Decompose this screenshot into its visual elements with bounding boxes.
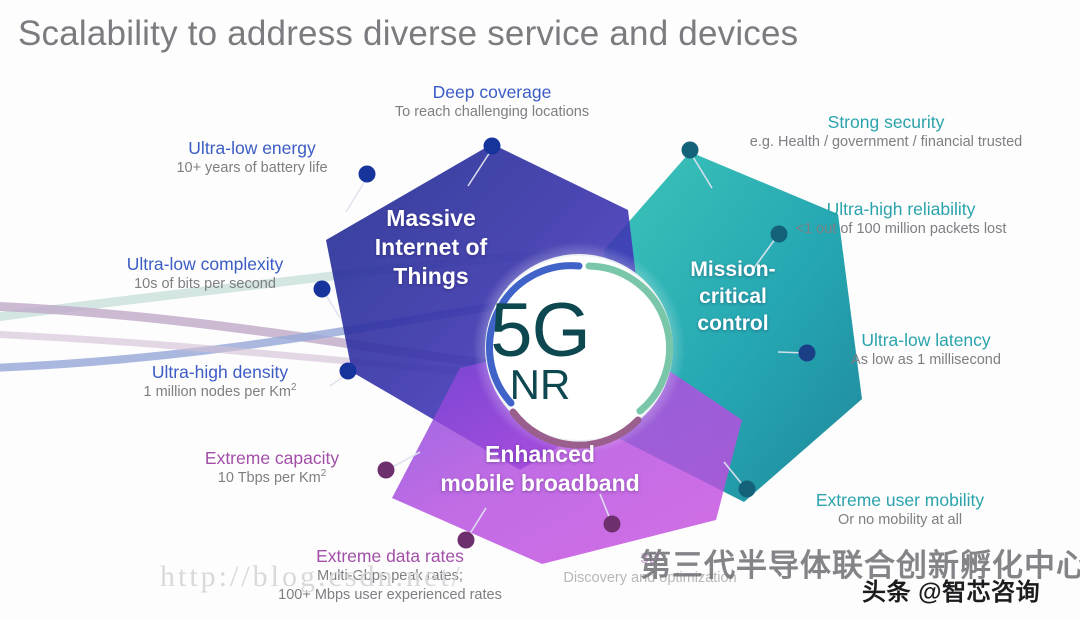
callout-ultra-high-density[interactable]: Ultra-high density 1 million nodes per K… bbox=[84, 362, 356, 402]
callout-ultra-low-latency[interactable]: Ultra-low latency As low as 1 millisecon… bbox=[808, 330, 1044, 370]
callout-heading: Deep coverage bbox=[347, 82, 637, 103]
callout-heading: Extreme user mobility bbox=[760, 490, 1040, 511]
callout-sub: Or no mobility at all bbox=[760, 511, 1040, 530]
callout-ultra-high-reliability[interactable]: Ultra-high reliability <1 out of 100 mil… bbox=[740, 199, 1062, 239]
callout-heading: Ultra-low energy bbox=[118, 138, 386, 159]
watermark-url: http://blog.csdn.net/ bbox=[160, 560, 463, 594]
callout-heading: Ultra-high reliability bbox=[740, 199, 1062, 220]
callout-extreme-user-mobility[interactable]: Extreme user mobility Or no mobility at … bbox=[760, 490, 1040, 530]
callout-sub: e.g. Health / government / financial tru… bbox=[710, 133, 1062, 152]
petal-label-massive-iot: Massive Internet of Things bbox=[332, 204, 530, 291]
callout-extreme-capacity[interactable]: Extreme capacity 10 Tbps per Km2 bbox=[140, 448, 404, 488]
callout-sub-superscript: 2 bbox=[291, 382, 296, 393]
petal-label-enhanced-mobile-broadband: Enhanced mobile broadband bbox=[398, 440, 682, 498]
callout-ultra-low-complexity[interactable]: Ultra-low complexity 10s of bits per sec… bbox=[68, 254, 342, 294]
callout-deep-coverage[interactable]: Deep coverage To reach challenging locat… bbox=[347, 82, 637, 122]
callout-ultra-low-energy[interactable]: Ultra-low energy 10+ years of battery li… bbox=[118, 138, 386, 178]
node-strong-security[interactable] bbox=[682, 142, 699, 159]
callout-sub: As low as 1 millisecond bbox=[808, 351, 1044, 370]
callout-sub: <1 out of 100 million packets lost bbox=[740, 220, 1062, 239]
callout-sub: 10+ years of battery life bbox=[118, 159, 386, 178]
callout-heading: Ultra-low latency bbox=[808, 330, 1044, 351]
callout-heading: Extreme capacity bbox=[140, 448, 404, 469]
callout-heading: Ultra-high density bbox=[84, 362, 356, 383]
callout-sub: 10 Tbps per Km2 bbox=[140, 469, 404, 488]
callout-sub: 1 million nodes per Km2 bbox=[84, 383, 356, 402]
callout-sub: 10s of bits per second bbox=[68, 275, 342, 294]
callout-sub-superscript: 2 bbox=[321, 468, 326, 479]
callout-heading: Strong security bbox=[710, 112, 1062, 133]
callout-sub: To reach challenging locations bbox=[347, 103, 637, 122]
node-extreme-user-mobility[interactable] bbox=[739, 481, 756, 498]
node-deep-coverage[interactable] bbox=[484, 138, 501, 155]
node-discovery-and-optimization[interactable] bbox=[604, 516, 621, 533]
watermark-handle: 头条 @智芯咨询 bbox=[862, 572, 1040, 607]
slide-canvas: Scalability to address diverse service a… bbox=[0, 0, 1080, 618]
callout-strong-security[interactable]: Strong security e.g. Health / government… bbox=[710, 112, 1062, 152]
callout-heading: Ultra-low complexity bbox=[68, 254, 342, 275]
